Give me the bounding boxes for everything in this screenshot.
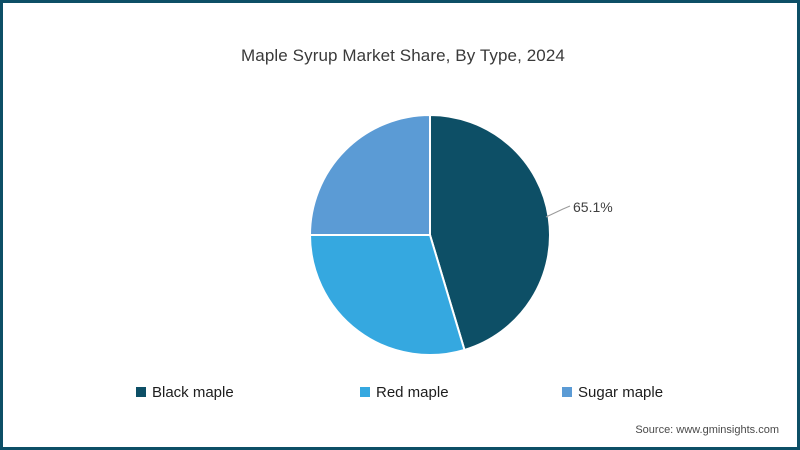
legend: Black maple Red maple Sugar maple xyxy=(3,381,800,403)
legend-swatch-icon-red-maple xyxy=(360,387,370,397)
legend-item-red-maple[interactable]: Red maple xyxy=(360,381,449,403)
legend-item-black-maple[interactable]: Black maple xyxy=(136,381,234,403)
legend-item-sugar-maple[interactable]: Sugar maple xyxy=(562,381,663,403)
legend-label-black-maple: Black maple xyxy=(152,384,234,401)
slice-data-label-black-maple: 65.1% xyxy=(573,199,613,215)
legend-swatch-icon-sugar-maple xyxy=(562,387,572,397)
chart-card: Maple Syrup Market Share, By Type, 2024 … xyxy=(0,0,800,450)
callout-leader-line xyxy=(546,206,570,217)
legend-label-sugar-maple: Sugar maple xyxy=(578,384,663,401)
source-note: Source: www.gminsights.com xyxy=(635,424,779,436)
legend-label-red-maple: Red maple xyxy=(376,384,449,401)
legend-swatch-icon-black-maple xyxy=(136,387,146,397)
pie-slice-sugar-maple[interactable] xyxy=(310,115,430,235)
